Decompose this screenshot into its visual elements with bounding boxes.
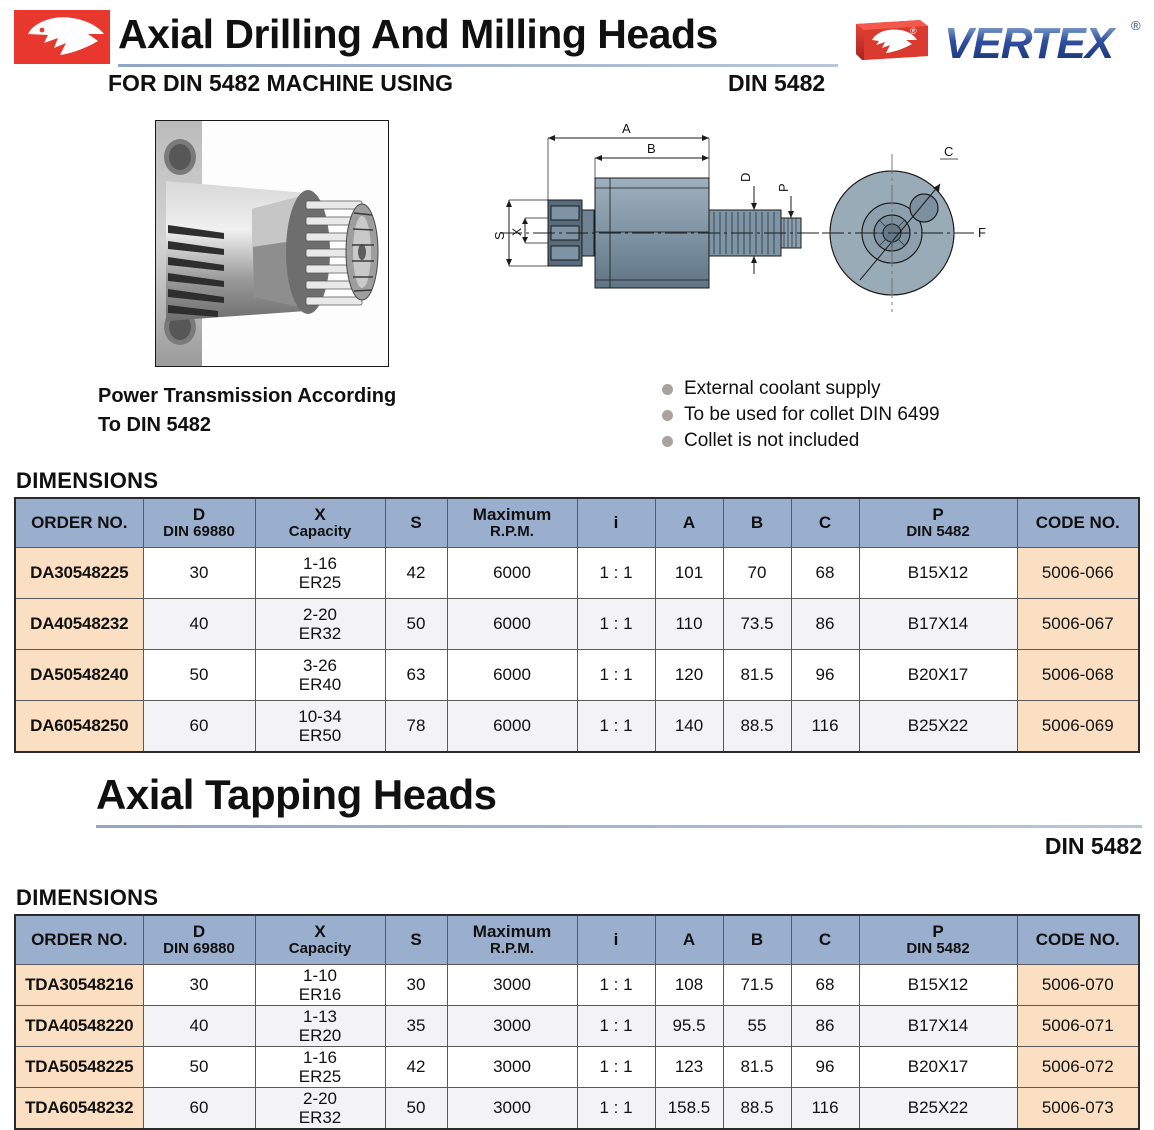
cell-a: 158.5 xyxy=(655,1088,723,1130)
col-b: B xyxy=(723,915,791,965)
cell-order-no: DA60548250 xyxy=(15,701,143,753)
table-row: DA50548240 50 3-26ER40 63 6000 1 : 1 120… xyxy=(15,650,1139,701)
page-title: Axial Drilling And Milling Heads xyxy=(118,14,718,55)
svg-text:®: ® xyxy=(910,26,917,36)
dimensions-label-2: DIMENSIONS xyxy=(16,885,1154,911)
cell-c: 68 xyxy=(791,548,859,599)
cell-b: 55 xyxy=(723,1006,791,1047)
tapping-heads-spec-table: ORDER NO. DDIN 69880 XCapacity S Maximum… xyxy=(14,914,1140,1130)
cell-b: 70 xyxy=(723,548,791,599)
cell-p: B20X17 xyxy=(859,1047,1017,1088)
cell-s: 35 xyxy=(385,1006,447,1047)
cell-b: 73.5 xyxy=(723,599,791,650)
cell-s: 50 xyxy=(385,1088,447,1130)
table-row: DA40548232 40 2-20ER32 50 6000 1 : 1 110… xyxy=(15,599,1139,650)
cell-order-no: DA40548232 xyxy=(15,599,143,650)
cell-order-no: DA50548240 xyxy=(15,650,143,701)
table-row: DA60548250 60 10-34ER50 78 6000 1 : 1 14… xyxy=(15,701,1139,753)
bullet-dot-icon xyxy=(662,436,673,447)
cell-a: 140 xyxy=(655,701,723,753)
dimensions-label-1: DIMENSIONS xyxy=(16,468,1154,494)
dim-label-D: D xyxy=(738,173,753,182)
product-photo xyxy=(155,120,389,367)
cell-i: 1 : 1 xyxy=(577,1047,655,1088)
bullet-dot-icon xyxy=(662,410,673,421)
cell-i: 1 : 1 xyxy=(577,650,655,701)
svg-text:®: ® xyxy=(1131,18,1141,33)
cell-c: 96 xyxy=(791,650,859,701)
page-header: Axial Drilling And Milling Heads FOR DIN… xyxy=(0,0,1154,108)
cell-b: 88.5 xyxy=(723,1088,791,1130)
table-row: TDA50548225 50 1-16ER25 42 3000 1 : 1 12… xyxy=(15,1047,1139,1088)
cell-i: 1 : 1 xyxy=(577,1006,655,1047)
cell-p: B17X14 xyxy=(859,1006,1017,1047)
section2-underline xyxy=(96,825,1142,828)
section2-din-standard: DIN 5482 xyxy=(1045,833,1142,860)
col-a: A xyxy=(655,915,723,965)
cell-i: 1 : 1 xyxy=(577,965,655,1006)
cell-code-no: 5006-069 xyxy=(1017,701,1139,753)
section2-heading-block: Axial Tapping Heads DIN 5482 xyxy=(0,767,1154,885)
cell-a: 95.5 xyxy=(655,1006,723,1047)
table-row: TDA40548220 40 1-13ER20 35 3000 1 : 1 95… xyxy=(15,1006,1139,1047)
cell-i: 1 : 1 xyxy=(577,1088,655,1130)
cell-i: 1 : 1 xyxy=(577,599,655,650)
cell-rpm: 6000 xyxy=(447,599,577,650)
cell-capacity: 1-16ER25 xyxy=(255,548,385,599)
cell-order-no: TDA50548225 xyxy=(15,1047,143,1088)
dim-label-P: P xyxy=(776,183,791,192)
list-item: Collet is not included xyxy=(662,430,940,452)
cell-rpm: 6000 xyxy=(447,548,577,599)
cell-p: B20X17 xyxy=(859,650,1017,701)
cell-code-no: 5006-073 xyxy=(1017,1088,1139,1130)
drilling-milling-spec-table: ORDER NO. DDIN 69880 XCapacity S Maximum… xyxy=(14,497,1140,753)
cell-i: 1 : 1 xyxy=(577,548,655,599)
table-row: DA30548225 30 1-16ER25 42 6000 1 : 1 101… xyxy=(15,548,1139,599)
col-order-no: ORDER NO. xyxy=(15,915,143,965)
cell-s: 30 xyxy=(385,965,447,1006)
col-rpm: MaximumR.P.M. xyxy=(447,498,577,548)
dim-label-S: S xyxy=(492,231,507,240)
cell-rpm: 6000 xyxy=(447,701,577,753)
col-s: S xyxy=(385,915,447,965)
technical-drawing: A B S X xyxy=(492,112,1012,322)
cell-capacity: 2-20ER32 xyxy=(255,1088,385,1130)
col-p: PDIN 5482 xyxy=(859,498,1017,548)
cell-c: 86 xyxy=(791,599,859,650)
section2-title: Axial Tapping Heads xyxy=(96,771,496,819)
cell-order-no: TDA30548216 xyxy=(15,965,143,1006)
cell-d: 50 xyxy=(143,1047,255,1088)
cell-d: 50 xyxy=(143,650,255,701)
header-din-standard: DIN 5482 xyxy=(728,70,825,97)
cell-c: 86 xyxy=(791,1006,859,1047)
col-c: C xyxy=(791,498,859,548)
note-text: To be used for collet DIN 6499 xyxy=(684,404,940,426)
cell-a: 110 xyxy=(655,599,723,650)
cell-capacity: 1-16ER25 xyxy=(255,1047,385,1088)
cell-rpm: 3000 xyxy=(447,1088,577,1130)
cell-order-no: TDA60548232 xyxy=(15,1088,143,1130)
cell-capacity: 3-26ER40 xyxy=(255,650,385,701)
cell-s: 50 xyxy=(385,599,447,650)
col-b: B xyxy=(723,498,791,548)
cell-s: 42 xyxy=(385,548,447,599)
cell-capacity: 10-34ER50 xyxy=(255,701,385,753)
list-item: External coolant supply xyxy=(662,378,940,400)
cell-d: 60 xyxy=(143,1088,255,1130)
vertex-wordmark: VERTEX xyxy=(944,19,1117,68)
cell-b: 88.5 xyxy=(723,701,791,753)
table-header-row: ORDER NO. DDIN 69880 XCapacity S Maximum… xyxy=(15,915,1139,965)
list-item: To be used for collet DIN 6499 xyxy=(662,404,940,426)
vertex-brand-logo: ® VERTEX ® xyxy=(848,10,1148,70)
cell-code-no: 5006-072 xyxy=(1017,1047,1139,1088)
cell-order-no: TDA40548220 xyxy=(15,1006,143,1047)
cell-d: 30 xyxy=(143,548,255,599)
col-d: DDIN 69880 xyxy=(143,498,255,548)
cell-p: B17X14 xyxy=(859,599,1017,650)
cell-rpm: 3000 xyxy=(447,965,577,1006)
cell-p: B15X12 xyxy=(859,965,1017,1006)
cell-rpm: 3000 xyxy=(447,1047,577,1088)
note-text: Collet is not included xyxy=(684,430,859,452)
cell-a: 108 xyxy=(655,965,723,1006)
col-a: A xyxy=(655,498,723,548)
notes-list: External coolant supply To be used for c… xyxy=(662,378,940,456)
photo-caption-line-2: To DIN 5482 xyxy=(98,411,396,440)
figures-section: Power Transmission According To DIN 5482… xyxy=(0,108,1154,468)
col-code-no: CODE NO. xyxy=(1017,915,1139,965)
cell-a: 101 xyxy=(655,548,723,599)
dim-label-B: B xyxy=(647,141,656,156)
col-rpm: MaximumR.P.M. xyxy=(447,915,577,965)
cell-capacity: 1-13ER20 xyxy=(255,1006,385,1047)
cell-p: B25X22 xyxy=(859,701,1017,753)
table-row: TDA30548216 30 1-10ER16 30 3000 1 : 1 10… xyxy=(15,965,1139,1006)
dim-label-C: C xyxy=(944,144,953,159)
cell-code-no: 5006-071 xyxy=(1017,1006,1139,1047)
cell-c: 96 xyxy=(791,1047,859,1088)
cell-code-no: 5006-070 xyxy=(1017,965,1139,1006)
cell-c: 116 xyxy=(791,1088,859,1130)
cell-b: 81.5 xyxy=(723,1047,791,1088)
cell-b: 81.5 xyxy=(723,650,791,701)
cell-d: 30 xyxy=(143,965,255,1006)
col-x: XCapacity xyxy=(255,915,385,965)
dim-label-A: A xyxy=(622,121,631,136)
table-header-row: ORDER NO. DDIN 69880 XCapacity S Maximum… xyxy=(15,498,1139,548)
cell-s: 63 xyxy=(385,650,447,701)
col-code-no: CODE NO. xyxy=(1017,498,1139,548)
photo-caption-line-1: Power Transmission According xyxy=(98,382,396,411)
cell-s: 78 xyxy=(385,701,447,753)
col-i: i xyxy=(577,915,655,965)
col-order-no: ORDER NO. xyxy=(15,498,143,548)
page-subtitle: FOR DIN 5482 MACHINE USING xyxy=(108,70,453,97)
cell-b: 71.5 xyxy=(723,965,791,1006)
cell-p: B25X22 xyxy=(859,1088,1017,1130)
dim-label-X: X xyxy=(510,228,524,236)
dim-label-F: F xyxy=(978,225,986,240)
col-x: XCapacity xyxy=(255,498,385,548)
cell-rpm: 6000 xyxy=(447,650,577,701)
table-row: TDA60548232 60 2-20ER32 50 3000 1 : 1 15… xyxy=(15,1088,1139,1130)
cell-code-no: 5006-067 xyxy=(1017,599,1139,650)
cell-c: 116 xyxy=(791,701,859,753)
col-d: DDIN 69880 xyxy=(143,915,255,965)
cell-capacity: 2-20ER32 xyxy=(255,599,385,650)
cell-rpm: 3000 xyxy=(447,1006,577,1047)
col-p: PDIN 5482 xyxy=(859,915,1017,965)
cell-a: 123 xyxy=(655,1047,723,1088)
cell-d: 40 xyxy=(143,1006,255,1047)
cell-code-no: 5006-068 xyxy=(1017,650,1139,701)
cell-d: 40 xyxy=(143,599,255,650)
bullet-dot-icon xyxy=(662,384,673,395)
cell-s: 42 xyxy=(385,1047,447,1088)
photo-caption: Power Transmission According To DIN 5482 xyxy=(98,382,396,440)
note-text: External coolant supply xyxy=(684,378,880,400)
cell-code-no: 5006-066 xyxy=(1017,548,1139,599)
cell-order-no: DA30548225 xyxy=(15,548,143,599)
cell-capacity: 1-10ER16 xyxy=(255,965,385,1006)
eagle-head-logo-icon xyxy=(14,10,110,64)
cell-c: 68 xyxy=(791,965,859,1006)
col-s: S xyxy=(385,498,447,548)
col-c: C xyxy=(791,915,859,965)
col-i: i xyxy=(577,498,655,548)
cell-a: 120 xyxy=(655,650,723,701)
cell-i: 1 : 1 xyxy=(577,701,655,753)
cell-p: B15X12 xyxy=(859,548,1017,599)
title-underline xyxy=(118,64,838,67)
cell-d: 60 xyxy=(143,701,255,753)
